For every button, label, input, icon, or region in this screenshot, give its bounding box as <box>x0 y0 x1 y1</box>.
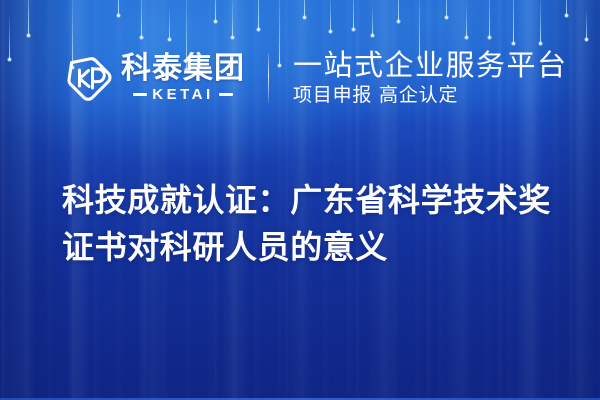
meteor-streak-icon <box>540 0 541 44</box>
meteor-streak-icon <box>489 0 490 38</box>
meteor-streak-icon <box>566 0 567 16</box>
header-divider <box>268 53 269 103</box>
meteor-streak-icon <box>232 0 233 38</box>
tagline-block: 一站式企业服务平台 项目申报 高企认定 <box>293 49 568 107</box>
page-title: 科技成就认证：广东省科学技术奖证书对科研人员的意义 <box>62 177 562 271</box>
dash-left-icon <box>133 93 147 96</box>
meteor-streak-icon <box>446 0 447 18</box>
meteor-streak-icon <box>372 4 373 36</box>
meteor-streak-icon <box>586 10 587 40</box>
meteor-streak-icon <box>353 0 354 30</box>
brand-name-cn: 科泰集团 <box>121 54 245 84</box>
meteor-streak-icon <box>513 0 514 44</box>
tagline-main: 一站式企业服务平台 <box>293 49 568 82</box>
meteor-streak-icon <box>258 0 259 30</box>
ketai-diamond-monogram-icon <box>62 53 112 103</box>
brand-name-en-row: KETAI <box>121 87 245 102</box>
meteor-streak-icon <box>141 0 142 38</box>
meteor-streak-icon <box>215 0 216 22</box>
brand-logo[interactable]: 科泰集团 KETAI <box>62 53 245 103</box>
meteor-streak-icon <box>398 0 399 22</box>
banner-canvas: 科泰集团 KETAI 一站式企业服务平台 项目申报 高企认定 科技成就认证：广东… <box>0 0 600 400</box>
meteor-streak-icon <box>466 2 467 38</box>
meteor-streak-icon <box>304 0 305 18</box>
tagline-sub: 项目申报 高企认定 <box>293 83 568 107</box>
meteor-streak-icon <box>330 0 331 32</box>
brand-name-en: KETAI <box>152 87 213 102</box>
meteor-streak-icon <box>28 0 29 36</box>
brand-wordmark: 科泰集团 KETAI <box>121 54 245 102</box>
banner-header: 科泰集团 KETAI 一站式企业服务平台 项目申报 高企认定 <box>0 42 600 114</box>
meteor-streak-icon <box>118 0 119 16</box>
meteor-streak-icon <box>169 6 170 40</box>
dash-right-icon <box>219 93 233 96</box>
